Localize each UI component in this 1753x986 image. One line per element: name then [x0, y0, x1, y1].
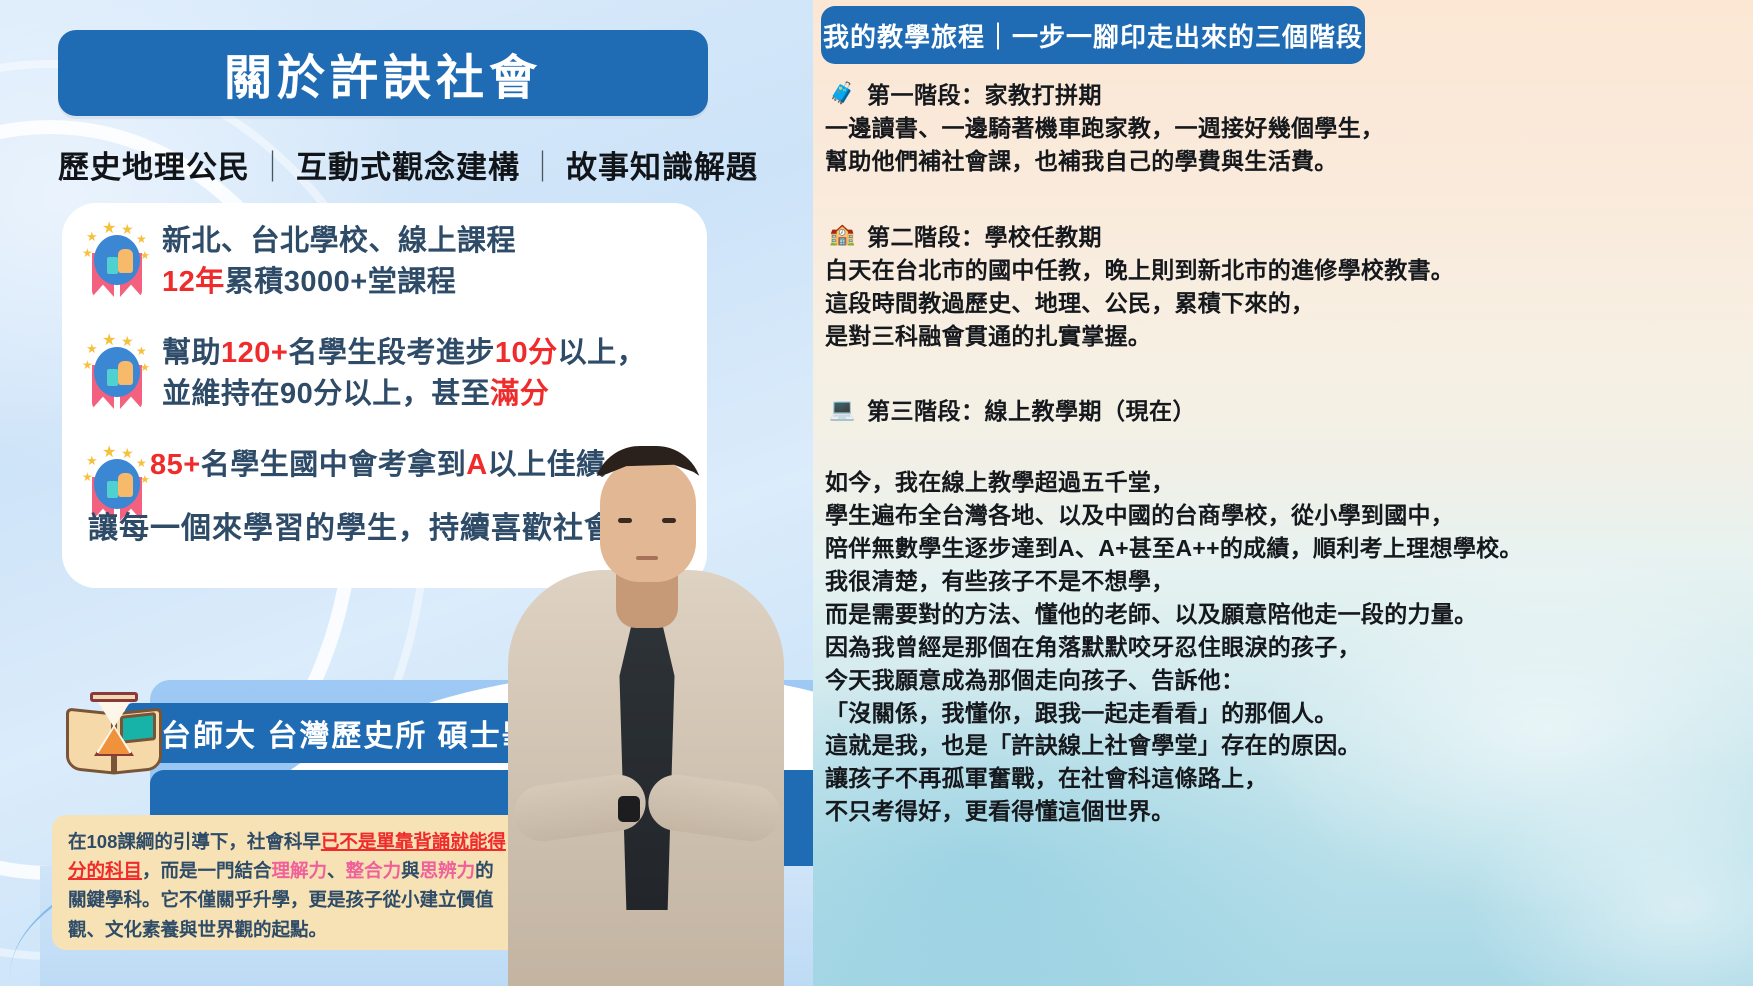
stage-1-line-2: 幫助他們補社會課，也補我自己的學費與生活費。 — [825, 145, 1747, 178]
stage-2-line-2: 這段時間教過歷史、地理、公民，累積下來的， — [825, 287, 1747, 320]
journey-title: 我的教學旅程｜一步一腳印走出來的三個階段 — [823, 17, 1363, 54]
curriculum-note: 在108課綱的引導下，社會科早已不是單靠背誦就能得分的科目，而是一門結合理解力、… — [52, 815, 522, 950]
star-icon: ★ — [86, 342, 98, 355]
note-seg-4: 理解力 — [272, 860, 328, 881]
achievement-text: 幫助120+名學生段考進步10分以上， 並維持在90分以上，甚至滿分 — [162, 333, 646, 415]
narrative-line-2: 學生遍布全台灣各地、以及中國的台商學校，從小學到國中， — [825, 499, 1747, 532]
star-icon: ★ — [86, 230, 98, 243]
poster-subtitle: 歷史地理公民｜互動式觀念建構｜故事知識解題 — [58, 142, 758, 187]
narrative-line-1: 如今，我在線上教學超過五千堂， — [825, 466, 1747, 499]
medal-thumbsup-icon: ★ ★ ★ ★ ★ ★ — [80, 221, 154, 303]
spacer — [825, 184, 1747, 218]
subtitle-separator-1: ｜ — [250, 150, 296, 185]
achievement-2-seg-3: 名學生段考進步 — [288, 337, 495, 369]
left-panel: 關於許訣社會 歷史地理公民｜互動式觀念建構｜故事知識解題 ★ ★ ★ ★ ★ ★ — [0, 0, 813, 986]
star-icon: ★ — [121, 446, 134, 460]
list-item: ★ ★ ★ ★ ★ ★ 幫助120+名學生段考進步10分以上， 並維持在90分以… — [80, 333, 646, 415]
achievement-1-line-1: 新北、台北學校、線上課程 — [162, 225, 516, 257]
stage-2: 🏫 第二階段：學校任教期 白天在台北市的國中任教，晚上則到新北市的進修學校教書。… — [825, 218, 1747, 353]
achievement-text: 85+名學生國中會考拿到A以上佳績 — [150, 445, 606, 486]
achievement-3-seg-2: 名學生國中會考拿到 — [201, 449, 467, 481]
list-item: ★ ★ ★ ★ ★ ★ 新北、台北學校、線上課程 12年累積3000+堂課程 — [80, 221, 516, 303]
narrative-line-9: 這就是我，也是「許訣線上社會學堂」存在的原因。 — [825, 729, 1747, 762]
thumbs-up-icon — [94, 347, 140, 397]
narrative-line-7: 今天我願意成為那個走向孩子、告訴他： — [825, 664, 1747, 697]
school-icon: 🏫 — [829, 224, 853, 245]
stage-3-heading: 💻 第三階段：線上教學期（現在） — [825, 392, 1747, 426]
page-title: 關於許訣社會 — [224, 38, 542, 108]
achievement-1-line-2: 累積3000+堂課程 — [225, 266, 456, 298]
star-icon: ★ — [136, 345, 147, 357]
thumbs-up-icon — [94, 235, 140, 285]
suitcase-icon: 🧳 — [829, 83, 853, 104]
stage-3: 💻 第三階段：線上教學期（現在） — [825, 392, 1747, 426]
narrative-line-4: 我很清楚，有些孩子不是不想學， — [825, 565, 1747, 598]
note-seg-3: ，而是一門結合 — [142, 860, 272, 881]
achievement-3-seg-3: A — [466, 449, 487, 481]
note-seg-8: 思辨力 — [420, 860, 476, 881]
degree-badge-label: 台師大 台灣歷史所 碩士畢 — [161, 711, 534, 755]
spacer — [825, 358, 1747, 392]
stage-2-heading: 🏫 第二階段：學校任教期 — [825, 218, 1747, 252]
achievements-card: ★ ★ ★ ★ ★ ★ 新北、台北學校、線上課程 12年累積3000+堂課程 ★ — [62, 203, 707, 588]
star-icon: ★ — [136, 457, 147, 469]
journey-narrative: 如今，我在線上教學超過五千堂， 學生遍布全台灣各地、以及中國的台商學校，從小學到… — [825, 466, 1747, 828]
narrative-line-5: 而是需要對的方法、懂他的老師、以及願意陪他走一段的力量。 — [825, 598, 1747, 631]
subtitle-separator-2: ｜ — [520, 150, 566, 185]
subtitle-part-3: 故事知識解題 — [566, 150, 758, 185]
stage-2-line-1: 白天在台北市的國中任教，晚上則到新北市的進修學校教書。 — [825, 254, 1747, 287]
achievement-3-seg-4: 以上佳績 — [488, 449, 606, 481]
narrative-line-11: 不只考得好，更看得懂這個世界。 — [825, 795, 1747, 828]
star-icon: ★ — [121, 334, 134, 348]
note-seg-6: 整合力 — [346, 860, 402, 881]
star-icon: ★ — [121, 222, 134, 236]
stage-2-line-3: 是對三科融會貫通的扎實掌握。 — [825, 320, 1747, 353]
stage-2-title: 第二階段：學校任教期 — [867, 218, 1102, 252]
narrative-line-8: 「沒關係，我懂你，跟我一起走看看」的那個人。 — [825, 697, 1747, 730]
star-icon: ★ — [86, 454, 98, 467]
achievement-text: 新北、台北學校、線上課程 12年累積3000+堂課程 — [162, 221, 516, 303]
journey-header-banner: 我的教學旅程｜一步一腳印走出來的三個階段 — [821, 6, 1365, 64]
subtitle-part-2: 互動式觀念建構 — [296, 150, 520, 185]
achievement-2-seg-4: 10分 — [495, 337, 558, 369]
right-panel: 我的教學旅程｜一步一腳印走出來的三個階段 🧳 第一階段：家教打拼期 一邊讀書、一… — [813, 0, 1753, 986]
degree-badge: 台師大 台灣歷史所 碩士畢 — [125, 703, 645, 763]
achievement-3-seg-1: 85+ — [150, 449, 201, 481]
spacer — [825, 432, 1747, 466]
stage-3-title: 第三階段：線上教學期（現在） — [867, 392, 1196, 426]
open-book-hourglass-icon — [64, 690, 164, 776]
poster-root: 關於許訣社會 歷史地理公民｜互動式觀念建構｜故事知識解題 ★ ★ ★ ★ ★ ★ — [0, 0, 1753, 986]
journey-body: 🧳 第一階段：家教打拼期 一邊讀書、一邊騎著機車跑家教，一週接好幾個學生， 幫助… — [825, 76, 1747, 834]
achievement-1-highlight: 12年 — [162, 266, 225, 298]
stage-1-line-1: 一邊讀書、一邊騎著機車跑家教，一週接好幾個學生， — [825, 112, 1747, 145]
laptop-icon: 💻 — [829, 399, 853, 420]
medal-thumbsup-icon: ★ ★ ★ ★ ★ ★ — [80, 333, 154, 415]
closing-line: 讓每一個來學習的學生，持續喜歡社會！ — [88, 503, 708, 547]
stage-1-title: 第一階段：家教打拼期 — [867, 76, 1102, 110]
thumbs-up-icon — [94, 459, 140, 509]
narrative-line-3: 陪伴無數學生逐步達到A、A+甚至A++的成績，順利考上理想學校。 — [825, 532, 1747, 565]
achievement-2-seg-2: 120+ — [221, 337, 288, 369]
note-seg-5: 、 — [327, 860, 346, 881]
stage-1: 🧳 第一階段：家教打拼期 一邊讀書、一邊騎著機車跑家教，一週接好幾個學生， 幫助… — [825, 76, 1747, 178]
narrative-line-6: 因為我曾經是那個在角落默默咬牙忍住眼淚的孩子， — [825, 631, 1747, 664]
achievement-2-seg-5: 以上， — [558, 337, 647, 369]
achievement-2-seg-7: 滿分 — [490, 378, 549, 410]
star-icon: ★ — [136, 233, 147, 245]
note-seg-1: 在108課綱的引導下，社會科早 — [68, 831, 321, 852]
achievement-2-seg-6: 並維持在90分以上，甚至 — [162, 378, 490, 410]
achievement-2-seg-1: 幫助 — [162, 337, 221, 369]
stage-1-heading: 🧳 第一階段：家教打拼期 — [825, 76, 1747, 110]
subtitle-part-1: 歷史地理公民 — [58, 150, 250, 185]
narrative-line-10: 讓孩子不再孤軍奮戰，在社會科這條路上， — [825, 762, 1747, 795]
poster-title-banner: 關於許訣社會 — [58, 30, 708, 116]
note-seg-7: 與 — [401, 860, 420, 881]
